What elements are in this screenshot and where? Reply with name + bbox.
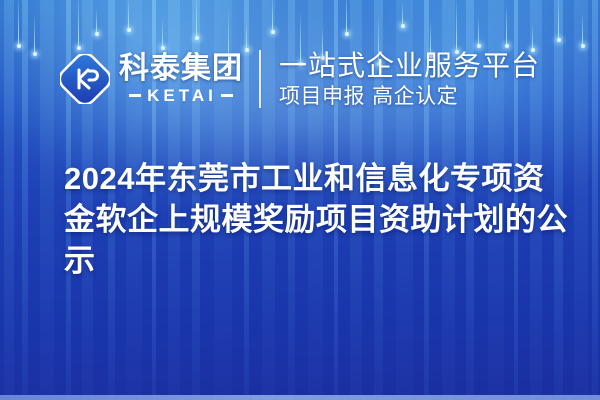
falling-light <box>196 0 197 38</box>
logo-company-name-en-row: KETAI <box>119 87 243 104</box>
falling-light <box>18 0 19 46</box>
falling-light <box>478 16 479 46</box>
falling-light <box>162 18 163 48</box>
falling-light <box>402 2 403 26</box>
tagline-block: 一站式企业服务平台 项目申报 高企认定 <box>279 50 540 109</box>
logo-dash-left <box>129 94 141 97</box>
falling-light <box>346 0 347 34</box>
falling-light <box>456 0 457 52</box>
falling-light <box>558 0 559 40</box>
logo-wordmark: 科泰集团 KETAI <box>119 54 243 104</box>
falling-light <box>128 0 129 30</box>
page-title: 2024年东莞市工业和信息化专项资金软企上规模奖励项目资助计划的公示 <box>64 158 569 281</box>
ketai-kp-diamond-logo-icon <box>60 54 110 104</box>
header-divider <box>259 50 261 108</box>
tagline-secondary: 项目申报 高企认定 <box>279 84 540 109</box>
banner-header: 科泰集团 KETAI 一站式企业服务平台 项目申报 高企认定 <box>0 46 600 112</box>
falling-light <box>96 8 97 34</box>
bottom-accent-band <box>0 395 600 400</box>
logo-company-name-cn: 科泰集团 <box>119 54 243 84</box>
promo-banner: 科泰集团 KETAI 一站式企业服务平台 项目申报 高企认定 2024年东莞市工… <box>0 0 600 400</box>
falling-light <box>272 0 273 32</box>
falling-light <box>78 0 79 48</box>
tagline-primary: 一站式企业服务平台 <box>279 50 540 82</box>
logo-company-name-en: KETAI <box>141 87 221 104</box>
logo-dash-right <box>221 94 233 97</box>
falling-light <box>582 12 583 46</box>
ketai-logo[interactable]: 科泰集团 KETAI <box>60 54 243 104</box>
falling-light <box>506 4 507 46</box>
